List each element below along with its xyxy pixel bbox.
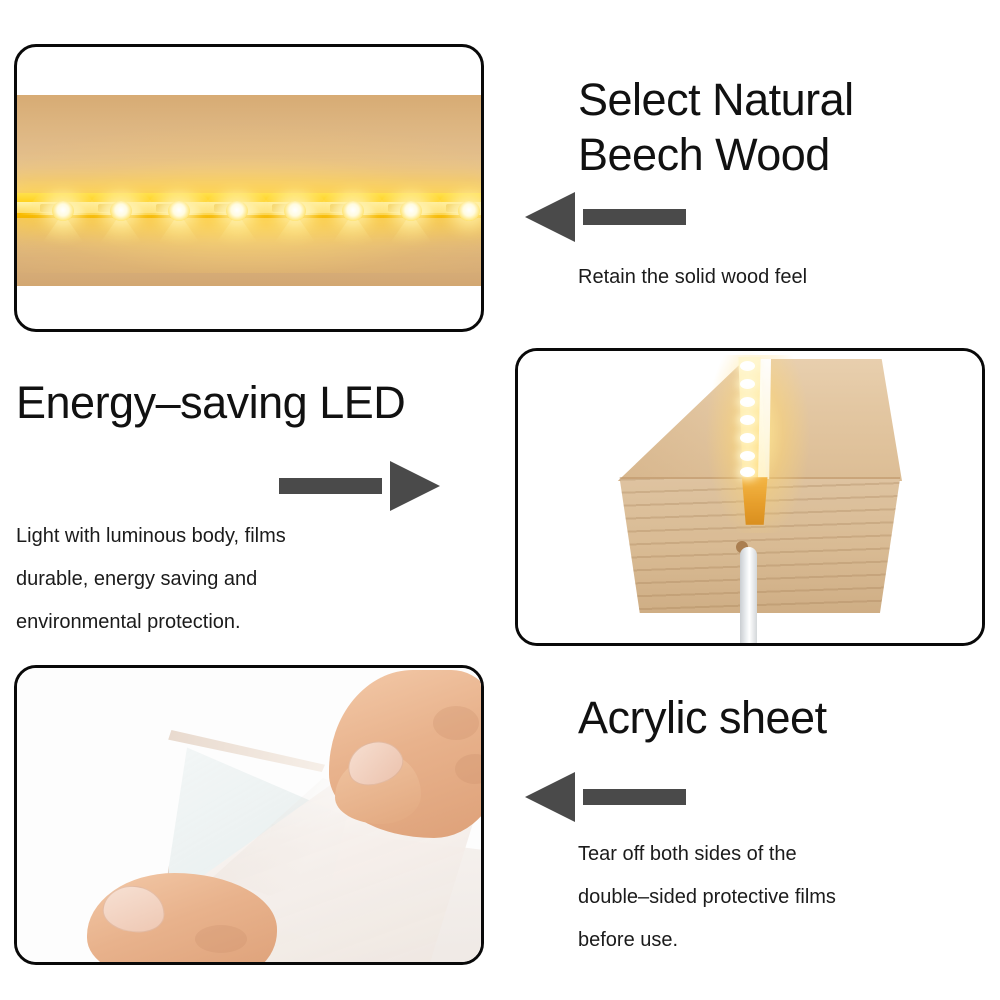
acrylic-sheet-photo xyxy=(17,668,481,962)
arrow-bar xyxy=(279,478,382,494)
power-cable xyxy=(740,547,757,646)
led-light-point xyxy=(400,201,422,221)
led-strip-photo xyxy=(14,95,484,286)
knuckle-crease xyxy=(455,754,484,784)
led-light-point xyxy=(458,201,480,221)
knuckle-crease xyxy=(195,925,247,953)
section-heading-natural-beech-wood: Select Natural Beech Wood xyxy=(578,72,978,182)
arrow-bar xyxy=(583,209,686,225)
led-slot-dot xyxy=(740,361,755,371)
section-heading-energy-saving-led: Energy–saving LED xyxy=(16,375,486,430)
led-light-point xyxy=(52,201,74,221)
photo-panel-acrylic-sheet xyxy=(14,665,484,965)
arrow-head xyxy=(390,461,440,511)
arrow-left-icon xyxy=(525,192,686,242)
arrow-left-icon xyxy=(525,772,686,822)
infographic-stage: Select Natural Beech Wood Retain the sol… xyxy=(0,0,1000,1000)
arrow-right-icon xyxy=(279,461,440,511)
photo-panel-led-strip xyxy=(14,44,484,332)
led-light-point xyxy=(342,201,364,221)
led-light-point xyxy=(226,201,248,221)
section-body-energy-saving-led: Light with luminous body, films durable,… xyxy=(16,515,486,644)
led-light-point xyxy=(110,201,132,221)
led-slot-dot xyxy=(740,379,755,389)
led-slot-dot xyxy=(740,467,755,477)
beech-block-photo xyxy=(518,351,982,643)
led-slot-dot xyxy=(740,415,755,425)
section-body-natural-beech-wood: Retain the solid wood feel xyxy=(578,256,978,299)
knuckle-crease xyxy=(433,706,479,740)
arrow-bar xyxy=(583,789,686,805)
led-slot-dot xyxy=(740,451,755,461)
led-slot-dot xyxy=(740,397,755,407)
arrow-head xyxy=(525,772,575,822)
photo-panel-beech-block xyxy=(515,348,985,646)
led-light-point xyxy=(168,201,190,221)
section-heading-acrylic-sheet: Acrylic sheet xyxy=(578,690,978,745)
arrow-head xyxy=(525,192,575,242)
led-slot-dot xyxy=(740,433,755,443)
led-light-point xyxy=(284,201,306,221)
section-body-acrylic-sheet: Tear off both sides of the double–sided … xyxy=(578,833,978,962)
